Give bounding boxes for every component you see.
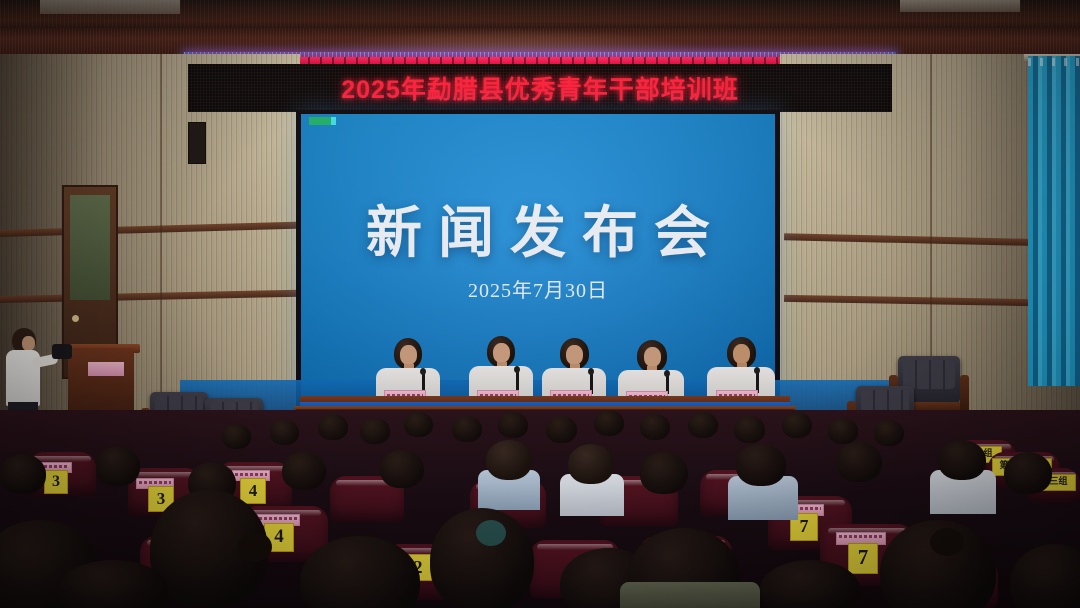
panelist-5-face [733, 344, 750, 364]
audience-torso-foreground [620, 582, 760, 608]
audience-head [282, 452, 326, 490]
screen-title: 新闻发布会 [301, 188, 775, 269]
door-knob[interactable] [72, 315, 79, 322]
audience-head [640, 414, 670, 440]
audience-head [380, 450, 424, 488]
audience-head [0, 454, 46, 494]
panelist-4-face [644, 347, 661, 367]
audience-head [546, 416, 577, 443]
panelist-3-face [566, 345, 583, 365]
audience-head [734, 416, 765, 443]
audience-head [736, 444, 786, 486]
audience-head [452, 416, 482, 442]
audience-head [874, 420, 904, 446]
panelist-2-mic-head [514, 366, 520, 373]
hair-bun [930, 528, 964, 556]
led-banner-text: 2025年勐腊县优秀青年干部培训班 [188, 70, 892, 106]
audience-head [270, 420, 299, 445]
seat-number-tag: 3 [44, 470, 68, 494]
audience-head [486, 440, 532, 480]
audience-head [222, 424, 251, 449]
audience-head [938, 440, 986, 480]
panelist-3-mic-head [588, 368, 594, 375]
fascia-light-glow [300, 28, 720, 54]
panelist-2-face [493, 343, 510, 363]
door-window [70, 195, 110, 300]
camera-icon [52, 344, 72, 359]
hair-bun [238, 532, 272, 562]
panelist-1-mic-head [420, 368, 426, 375]
led-banner: 2025年勐腊县优秀青年干部培训班 [188, 64, 892, 112]
podium-nameplate [88, 362, 124, 376]
projection-screen: 新闻发布会 2025年7月30日 [301, 114, 775, 402]
seat-number-tag: 4 [240, 478, 266, 504]
ceiling-light-panel-right [900, 0, 1020, 12]
panelist-4-mic-head [664, 370, 670, 377]
ceiling-light-panel-left [40, 0, 180, 14]
audience-head [360, 418, 390, 444]
conference-hall-photo: 2025年勐腊县优秀青年干部培训班 新闻发布会 2025年7月30日 [0, 0, 1080, 608]
screen-green-marker-icon [309, 117, 331, 125]
seat-number-tag: 7 [848, 543, 878, 574]
audience-head [594, 410, 624, 436]
hair-tie [476, 520, 506, 546]
audience-head [404, 412, 433, 437]
wall-speaker [188, 122, 206, 164]
audience-head [96, 446, 140, 486]
audience-head [782, 412, 812, 438]
audience-head [498, 412, 528, 438]
screen-cyan-marker-icon [331, 117, 336, 125]
panelist-5-mic-head [754, 367, 760, 374]
audience-head [318, 414, 348, 440]
audience-head [640, 452, 688, 494]
audience-head [1004, 452, 1052, 494]
curtain-rings [1028, 58, 1080, 66]
audience-head [836, 442, 882, 482]
panelist-1-face [400, 345, 417, 365]
audience-head [568, 444, 614, 484]
window-curtain[interactable] [1028, 56, 1080, 386]
audience-head [688, 412, 718, 438]
audience-head [828, 418, 858, 444]
camera-operator-face [22, 336, 35, 351]
screen-date: 2025年7月30日 [301, 274, 775, 303]
